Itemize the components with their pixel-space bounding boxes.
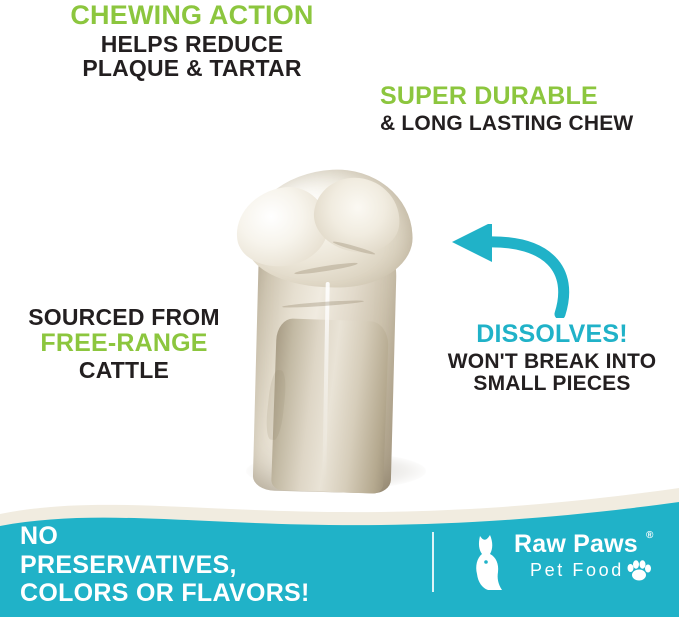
callout-dissolves: Dissolves! Won't Break Into Small Pieces [432,322,672,394]
banner-line1: No [20,522,310,551]
callout-chewing-line1: Chewing Action [62,2,322,30]
product-photo-area: Chewing Action Helps Reduce Plaque & Tar… [0,0,679,520]
callout-super-durable: Super Durable & Long Lasting Chew [380,84,670,134]
bottom-banner: No Preservatives, Colors Or Flavors! Raw… [0,480,679,617]
callout-dissolves-line1: Dissolves! [432,322,672,348]
paw-print-icon [626,560,652,582]
banner-line2: Preservatives, [20,551,310,580]
dog-silhouette-icon [468,530,514,592]
callout-durable-line1: Super Durable [380,84,670,110]
raw-paws-logo: Raw Paws ® Pet Food [466,526,666,600]
callout-chewing-line3: Plaque & Tartar [62,57,322,80]
callout-sourced-line2: Free-Range [24,331,224,357]
callout-sourced-free-range: Sourced From Free-Range Cattle [24,306,224,382]
logo-subtitle: Pet Food [530,560,624,581]
callout-chewing-line2: Helps Reduce [62,33,322,56]
curved-arrow-icon [440,224,580,318]
callout-sourced-line1: Sourced From [24,306,224,329]
callout-chewing-action: Chewing Action Helps Reduce Plaque & Tar… [62,2,322,80]
callout-dissolves-line3: Small Pieces [432,373,672,394]
dog-chew-bone-image [228,170,424,490]
callout-durable-line2: & Long Lasting Chew [380,113,670,134]
bone-shaft-lower [271,318,389,494]
callout-sourced-line3: Cattle [24,359,224,382]
banner-divider [432,532,434,592]
logo-name: Raw Paws [514,530,638,559]
product-infographic: Chewing Action Helps Reduce Plaque & Tar… [0,0,679,617]
banner-line3: Colors Or Flavors! [20,579,310,608]
callout-dissolves-line2: Won't Break Into [432,351,672,372]
logo-registered-mark: ® [646,530,653,541]
banner-headline: No Preservatives, Colors Or Flavors! [20,522,310,608]
